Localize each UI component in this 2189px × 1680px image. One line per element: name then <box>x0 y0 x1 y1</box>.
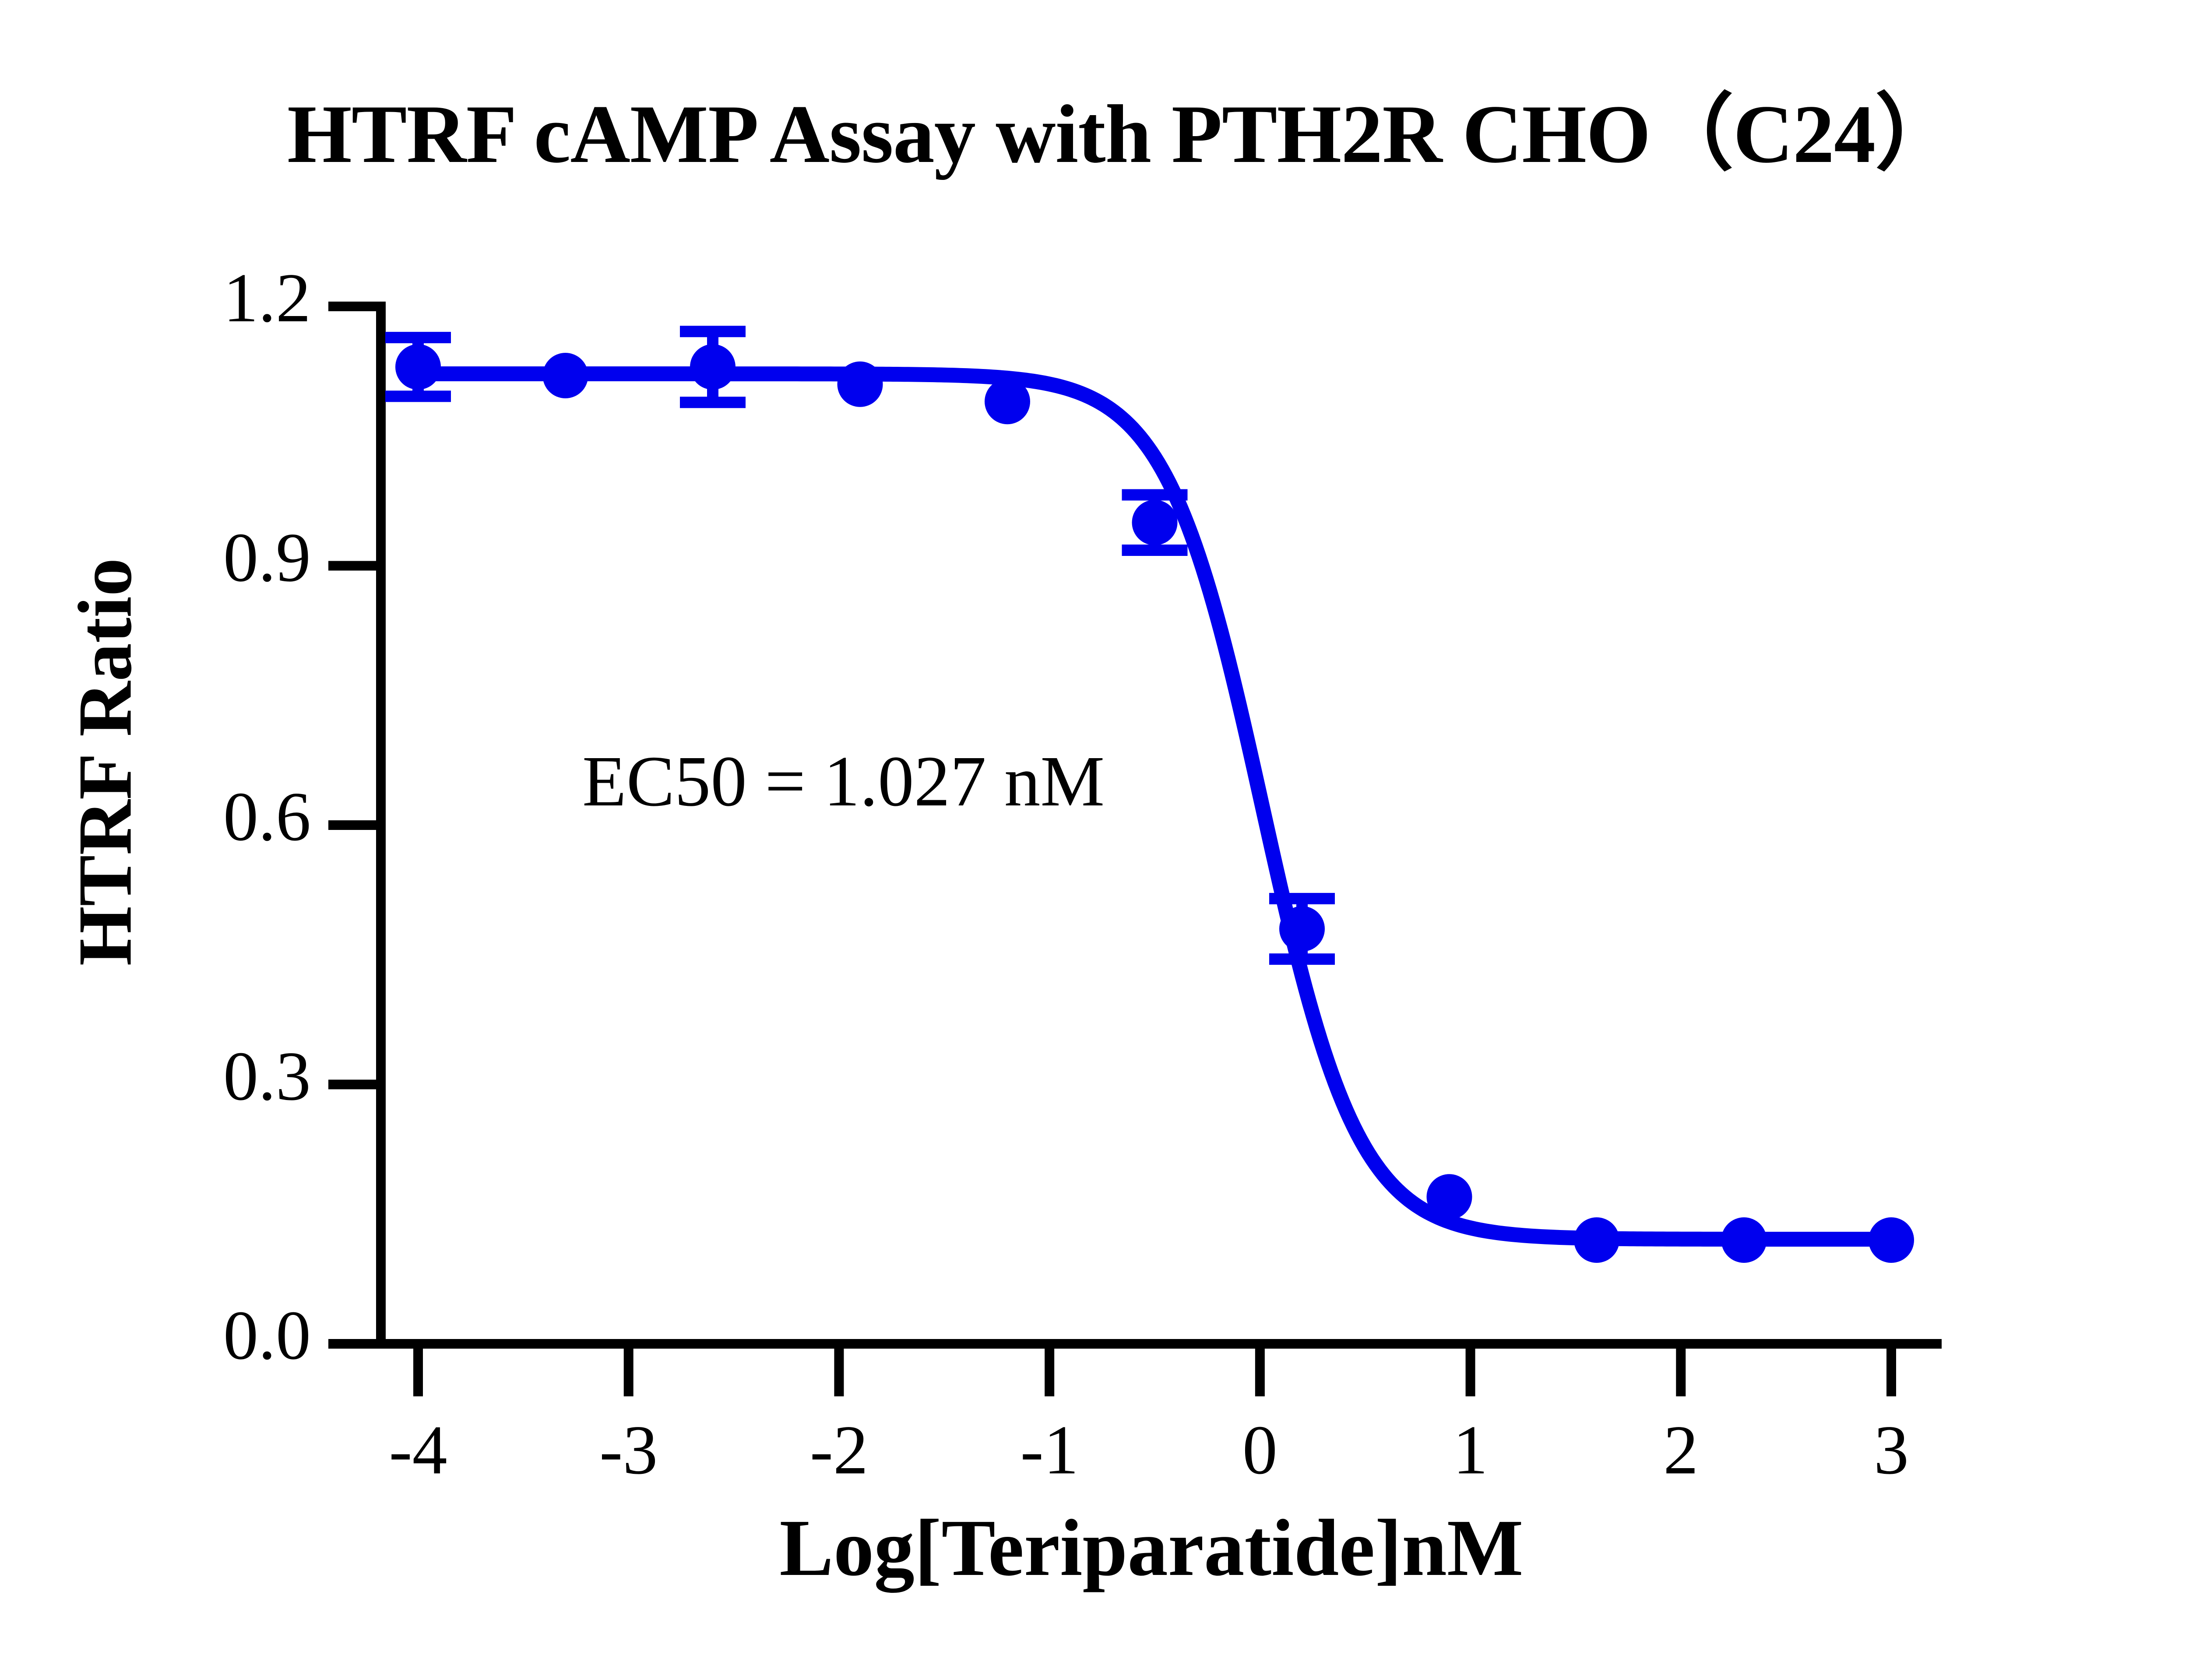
y-tick-label-3: 0.9 <box>92 517 311 598</box>
data-point-5[interactable] <box>1132 500 1178 545</box>
x-tick-label-2: -2 <box>760 1409 918 1490</box>
data-point-3[interactable] <box>838 362 883 407</box>
data-point-7[interactable] <box>1427 1174 1472 1220</box>
x-tick-label-3: -1 <box>971 1409 1128 1490</box>
data-point-0[interactable] <box>395 344 441 390</box>
data-point-1[interactable] <box>543 353 588 398</box>
data-point-4[interactable] <box>985 379 1030 424</box>
y-tick-label-0: 0.0 <box>92 1295 311 1376</box>
y-tick-label-2: 0.6 <box>92 776 311 857</box>
chart-figure: HTRF cAMP Assay with PTH2R CHO（C24） HTRF… <box>0 0 2189 1680</box>
data-point-8[interactable] <box>1574 1217 1619 1263</box>
y-tick-label-4: 1.2 <box>92 257 311 338</box>
data-point-10[interactable] <box>1869 1217 1914 1263</box>
x-tick-label-0: -4 <box>339 1409 497 1490</box>
x-tick-label-6: 2 <box>1602 1409 1760 1490</box>
x-tick-label-7: 3 <box>1812 1409 1970 1490</box>
data-point-2[interactable] <box>690 344 736 390</box>
y-tick-label-1: 0.3 <box>92 1036 311 1117</box>
data-point-6[interactable] <box>1279 906 1325 952</box>
x-tick-label-1: -3 <box>550 1409 707 1490</box>
x-tick-label-5: 1 <box>1392 1409 1549 1490</box>
data-point-9[interactable] <box>1721 1217 1767 1263</box>
x-tick-label-4: 0 <box>1181 1409 1339 1490</box>
